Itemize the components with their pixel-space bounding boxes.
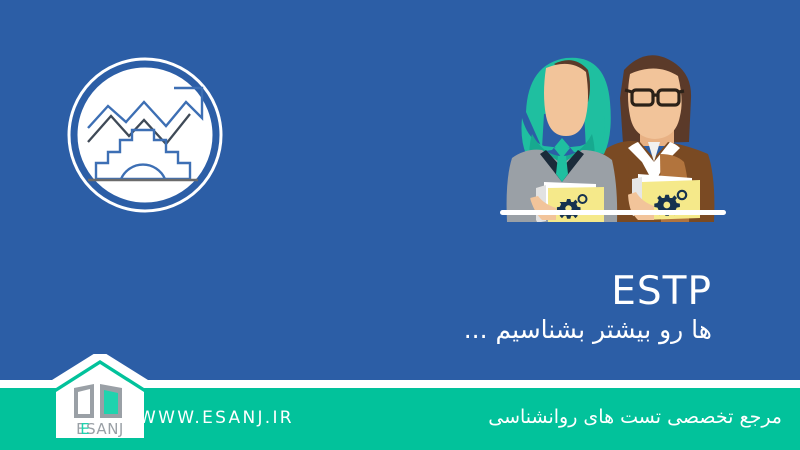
esanj-logo-graphic: ESANJ E — [52, 362, 148, 440]
logo-panel-left-inner — [78, 389, 90, 414]
woman-face — [544, 64, 588, 136]
logo-panel-right-inner — [104, 390, 118, 414]
headline-line-1: ESTP — [72, 270, 712, 314]
footer-tagline: مرجع تخصصی تست های روانشناسی — [488, 406, 782, 428]
emblem-inner-circle — [75, 65, 215, 205]
footer-bar: ESANJ E WWW.ESANJ.IR مرجع تخصصی تست های … — [0, 354, 800, 450]
banner-canvas: ESTP ها رو بیشتر بشناسیم ... — [0, 0, 800, 450]
logo-wordmark-accent: E — [80, 420, 89, 438]
headline-line-2: ها رو بیشتر بشناسیم ... — [72, 316, 712, 344]
personality-type-code: ESTP — [611, 269, 712, 314]
illustration-graphic — [492, 46, 742, 222]
man-figure — [601, 55, 714, 222]
emblem-graphic — [66, 56, 224, 214]
site-url[interactable]: WWW.ESANJ.IR — [139, 408, 294, 428]
woman-figure — [507, 58, 618, 222]
desk-shelf — [500, 210, 726, 215]
esanj-logo[interactable]: ESANJ E — [52, 362, 148, 440]
footer-content: ESANJ E WWW.ESANJ.IR مرجع تخصصی تست های … — [0, 354, 800, 450]
two-professionals-illustration — [492, 46, 742, 222]
headline: ESTP ها رو بیشتر بشناسیم ... — [72, 270, 712, 344]
growth-gear-emblem — [66, 56, 224, 214]
